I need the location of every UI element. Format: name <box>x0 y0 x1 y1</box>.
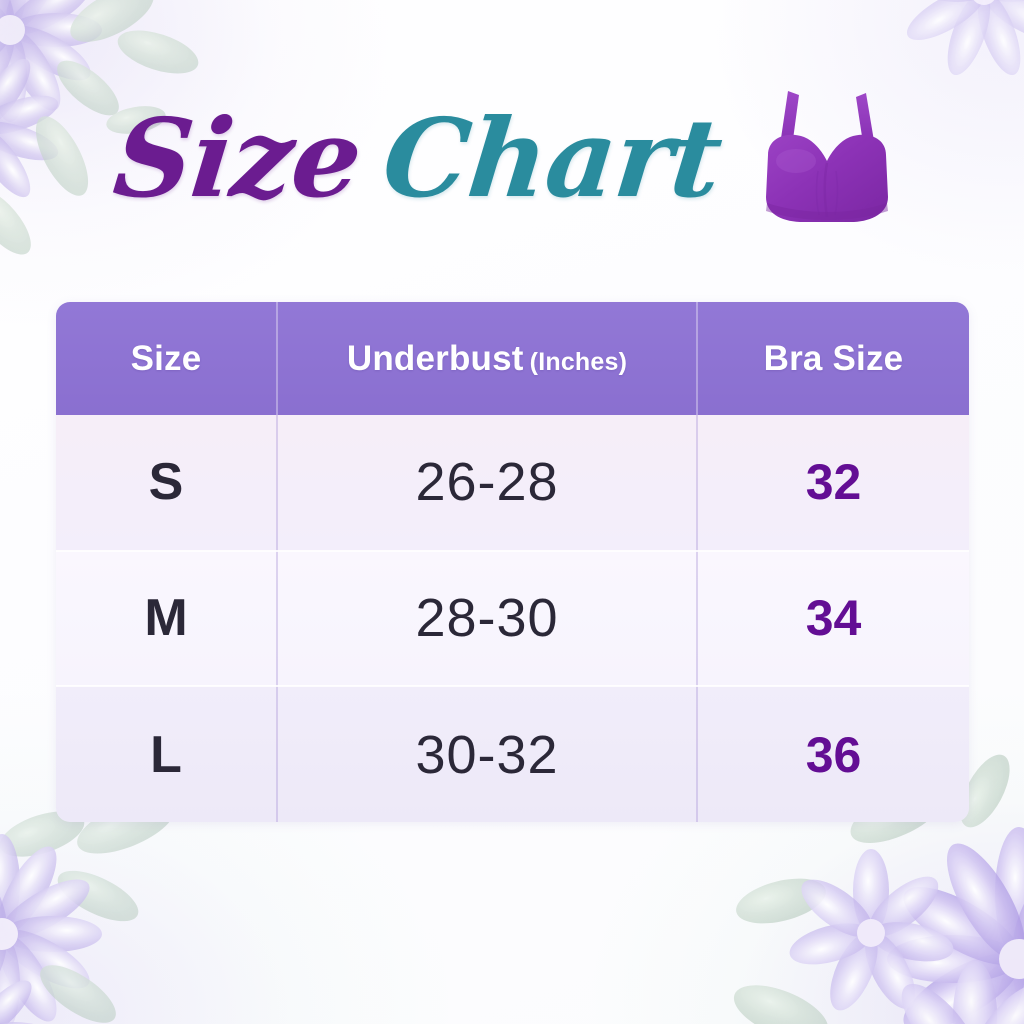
cell-bra-size: 34 <box>697 551 969 687</box>
column-header-size-label: Size <box>131 339 202 378</box>
column-header-bra-size: Bra Size <box>697 302 969 415</box>
cell-underbust: 28-30 <box>277 551 697 687</box>
title-word-chart: Chart <box>378 105 726 213</box>
cell-bra-size: 32 <box>697 415 969 551</box>
table-body: S 26-28 32 M 28-30 34 L 30-32 36 <box>56 415 969 822</box>
cell-size: L <box>56 686 277 822</box>
bra-product-image <box>744 79 909 244</box>
table-header: Size Underbust(Inches) Bra Size <box>56 302 969 415</box>
column-header-underbust: Underbust(Inches) <box>277 302 697 415</box>
cell-bra-size: 36 <box>697 686 969 822</box>
column-header-bra-size-label: Bra Size <box>764 339 904 378</box>
column-header-size: Size <box>56 302 277 415</box>
column-header-underbust-unit: (Inches) <box>530 348 627 376</box>
cell-size: S <box>56 415 277 551</box>
cell-underbust: 26-28 <box>277 415 697 551</box>
table-header-row: Size Underbust(Inches) Bra Size <box>56 302 969 415</box>
page-title: Size Chart <box>0 74 1024 244</box>
size-chart-canvas: Size Chart <box>0 0 1024 1024</box>
column-header-underbust-label: Underbust <box>347 339 524 378</box>
size-chart-table: Size Underbust(Inches) Bra Size S 26-28 … <box>56 302 969 822</box>
cell-size: M <box>56 551 277 687</box>
cell-underbust: 30-32 <box>277 686 697 822</box>
table-row: M 28-30 34 <box>56 551 969 687</box>
table-row: L 30-32 36 <box>56 686 969 822</box>
size-chart-table-container: Size Underbust(Inches) Bra Size S 26-28 … <box>56 302 969 822</box>
table-row: S 26-28 32 <box>56 415 969 551</box>
title-word-size: Size <box>109 105 365 213</box>
